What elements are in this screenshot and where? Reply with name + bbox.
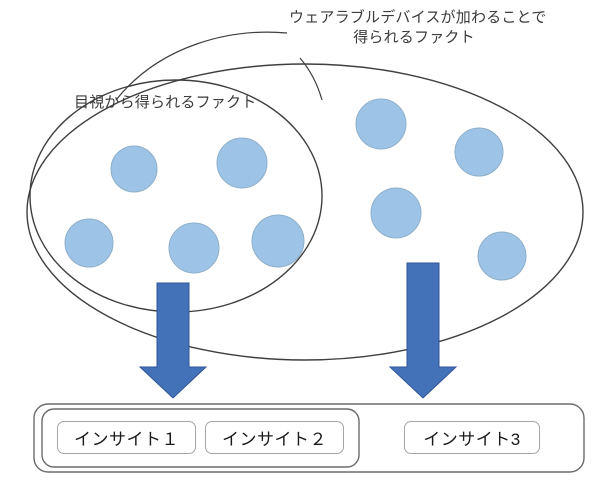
inner-ellipse-visual-facts — [30, 80, 322, 312]
fact-circle — [217, 138, 267, 188]
fact-circle-group-wearable — [356, 99, 526, 280]
diagram-vector-layer — [0, 0, 600, 491]
fact-circle — [478, 232, 526, 280]
fact-circle — [356, 99, 406, 149]
fact-circle — [371, 188, 421, 238]
fact-circle — [455, 128, 503, 176]
diagram-canvas: ウェアラブルデバイスが加わることで 得られるファクト 目視から得られるファクト … — [0, 0, 600, 491]
fact-circle — [169, 223, 219, 273]
fact-circle — [252, 215, 304, 267]
insight-chip-3[interactable]: インサイト3 — [404, 421, 540, 454]
fact-circle — [65, 219, 113, 267]
label-visual-fact: 目視から得られるファクト — [74, 93, 304, 113]
insight-chip-1[interactable]: インサイト１ — [57, 421, 196, 454]
fact-circle-group-visual — [65, 138, 304, 273]
fact-circle — [111, 146, 157, 192]
insight-chip-2[interactable]: インサイト２ — [205, 421, 344, 454]
right-down-arrow — [390, 263, 456, 398]
label-wearable-fact: ウェアラブルデバイスが加わることで 得られるファクト — [289, 8, 539, 48]
left-down-arrow — [140, 283, 206, 398]
